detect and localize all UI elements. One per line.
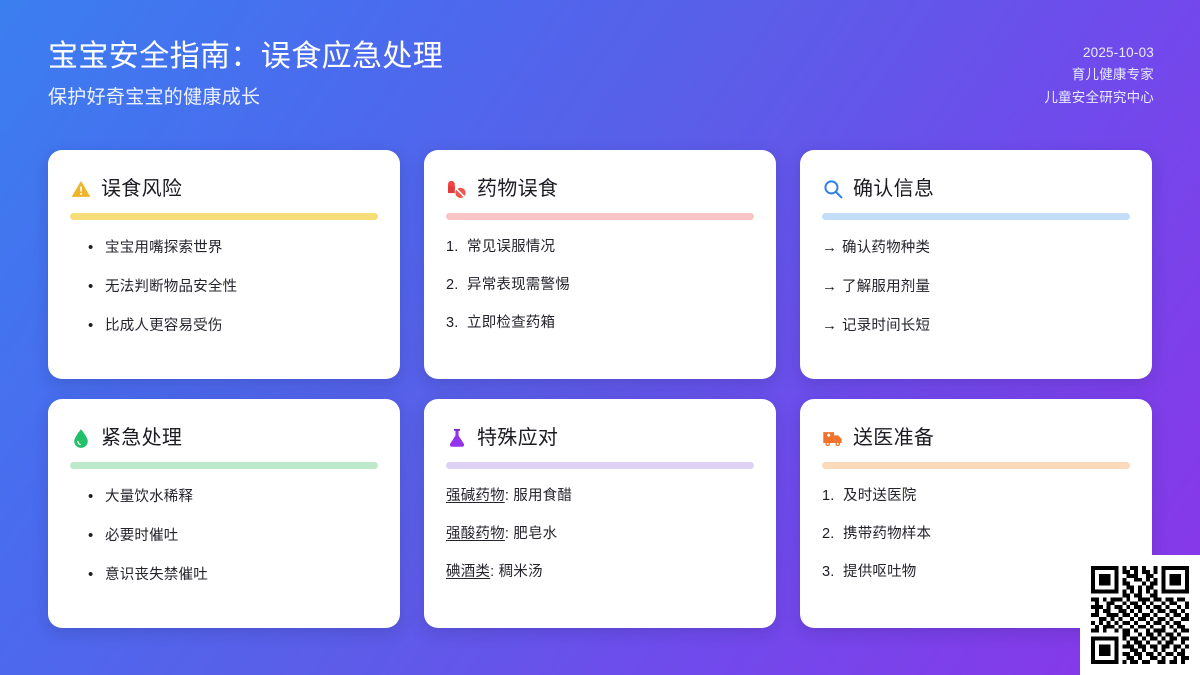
list-item-marker: →	[822, 237, 842, 259]
card-list: →确认药物种类 →了解服用剂量 →记录时间长短	[822, 237, 1130, 337]
card-list: 大量饮水稀释 必要时催吐 意识丧失禁催吐	[70, 486, 378, 586]
list-item-text: 了解服用剂量	[842, 277, 930, 298]
poster-header: 宝宝安全指南：误食应急处理 保护好奇宝宝的健康成长 2025-10-03 育儿健…	[0, 0, 1200, 140]
definition-value: 稠米汤	[499, 564, 543, 580]
flask-icon	[446, 427, 468, 449]
qr-code[interactable]	[1080, 555, 1200, 675]
list-item-text: 宝宝用嘴探索世界	[105, 238, 223, 259]
list-item-text: 携带药物样本	[843, 524, 931, 545]
list-item: →记录时间长短	[822, 315, 1130, 337]
list-item-text: 立即检查药箱	[467, 313, 555, 334]
card-accent-bar	[446, 462, 754, 469]
list-item: 比成人更容易受伤	[88, 315, 378, 337]
card-medicine-ingestion: 药物误食 1.常见误服情况 2.异常表现需警惕 3.立即检查药箱	[424, 150, 776, 379]
list-item-text: 必要时催吐	[105, 526, 179, 547]
card-accent-bar	[70, 462, 378, 469]
list-item-text: 常见误服情况	[467, 237, 555, 258]
page-title: 宝宝安全指南：误食应急处理	[48, 38, 443, 76]
list-item: 碘酒类: 稠米汤	[446, 562, 754, 583]
definition-value: 肥皂水	[513, 526, 557, 542]
list-item-text: 比成人更容易受伤	[105, 316, 223, 337]
card-emergency-handling: 紧急处理 大量饮水稀释 必要时催吐 意识丧失禁催吐	[48, 399, 400, 628]
card-accent-bar	[446, 213, 754, 220]
definition-separator: :	[505, 488, 513, 504]
list-item: →确认药物种类	[822, 237, 1130, 259]
card-title: 确认信息	[853, 179, 934, 199]
list-item-marker: 2.	[446, 275, 467, 296]
page-subtitle: 保护好奇宝宝的健康成长	[48, 86, 443, 111]
meta-date: 2025-10-03	[1083, 42, 1154, 64]
card-header: 误食风险	[70, 174, 378, 204]
card-list: 强碱药物: 服用食醋 强酸药物: 肥皂水 碘酒类: 稠米汤	[446, 486, 754, 583]
card-title: 特殊应对	[477, 428, 558, 448]
card-header: 送医准备	[822, 423, 1130, 453]
list-item: 2.携带药物样本	[822, 524, 1130, 545]
warning-triangle-icon	[70, 178, 92, 200]
pills-icon	[446, 178, 468, 200]
poster-canvas: 宝宝安全指南：误食应急处理 保护好奇宝宝的健康成长 2025-10-03 育儿健…	[0, 0, 1200, 675]
meta-author: 育儿健康专家	[1072, 64, 1154, 86]
list-item-text: 记录时间长短	[842, 316, 930, 337]
definition-term: 强碱药物	[446, 488, 505, 504]
list-item: →了解服用剂量	[822, 276, 1130, 298]
list-item-text: 大量饮水稀释	[105, 487, 193, 508]
card-header: 紧急处理	[70, 423, 378, 453]
list-item-text: 及时送医院	[843, 486, 917, 507]
list-item-marker: 1.	[822, 486, 843, 507]
card-header: 特殊应对	[446, 423, 754, 453]
list-item: 1.常见误服情况	[446, 237, 754, 258]
list-item: 宝宝用嘴探索世界	[88, 237, 378, 259]
card-accent-bar	[70, 213, 378, 220]
header-meta-block: 2025-10-03 育儿健康专家 儿童安全研究中心	[1044, 38, 1154, 109]
card-accent-bar	[822, 213, 1130, 220]
list-item: 1.及时送医院	[822, 486, 1130, 507]
list-item: 3.立即检查药箱	[446, 313, 754, 334]
card-list: 宝宝用嘴探索世界 无法判断物品安全性 比成人更容易受伤	[70, 237, 378, 337]
card-special-response: 特殊应对 强碱药物: 服用食醋 强酸药物: 肥皂水 碘酒类: 稠米汤	[424, 399, 776, 628]
ambulance-icon	[822, 427, 844, 449]
definition-separator: :	[505, 526, 513, 542]
droplet-icon	[70, 427, 92, 449]
definition-value: 服用食醋	[513, 488, 572, 504]
qr-code-image	[1091, 566, 1189, 664]
card-title: 药物误食	[477, 179, 558, 199]
definition-term: 强酸药物	[446, 526, 505, 542]
card-confirm-info: 确认信息 →确认药物种类 →了解服用剂量 →记录时间长短	[800, 150, 1152, 379]
card-title: 误食风险	[101, 179, 182, 199]
list-item: 大量饮水稀释	[88, 486, 378, 508]
list-item-marker: →	[822, 276, 842, 298]
list-item: 强酸药物: 肥皂水	[446, 524, 754, 545]
header-title-block: 宝宝安全指南：误食应急处理 保护好奇宝宝的健康成长	[48, 38, 443, 110]
list-item-marker: 2.	[822, 524, 843, 545]
list-item-text: 无法判断物品安全性	[105, 277, 237, 298]
list-item-marker: 3.	[822, 562, 843, 583]
card-header: 药物误食	[446, 174, 754, 204]
list-item: 2.异常表现需警惕	[446, 275, 754, 296]
list-item-text: 意识丧失禁催吐	[105, 565, 208, 586]
card-accent-bar	[822, 462, 1130, 469]
card-header: 确认信息	[822, 174, 1130, 204]
search-icon	[822, 178, 844, 200]
list-item-text: 异常表现需警惕	[467, 275, 570, 296]
list-item: 强碱药物: 服用食醋	[446, 486, 754, 507]
meta-organization: 儿童安全研究中心	[1044, 87, 1154, 109]
card-grid: 误食风险 宝宝用嘴探索世界 无法判断物品安全性 比成人更容易受伤	[48, 150, 1152, 628]
list-item-marker: →	[822, 315, 842, 337]
list-item: 意识丧失禁催吐	[88, 564, 378, 586]
list-item: 必要时催吐	[88, 525, 378, 547]
definition-separator: :	[490, 564, 498, 580]
card-title: 送医准备	[853, 428, 934, 448]
list-item-marker: 3.	[446, 313, 467, 334]
definition-term: 碘酒类	[446, 564, 490, 580]
list-item-text: 提供呕吐物	[843, 562, 917, 583]
card-ingestion-risk: 误食风险 宝宝用嘴探索世界 无法判断物品安全性 比成人更容易受伤	[48, 150, 400, 379]
list-item-marker: 1.	[446, 237, 467, 258]
list-item: 无法判断物品安全性	[88, 276, 378, 298]
list-item-text: 确认药物种类	[842, 238, 930, 259]
card-title: 紧急处理	[101, 428, 182, 448]
card-list: 1.常见误服情况 2.异常表现需警惕 3.立即检查药箱	[446, 237, 754, 334]
